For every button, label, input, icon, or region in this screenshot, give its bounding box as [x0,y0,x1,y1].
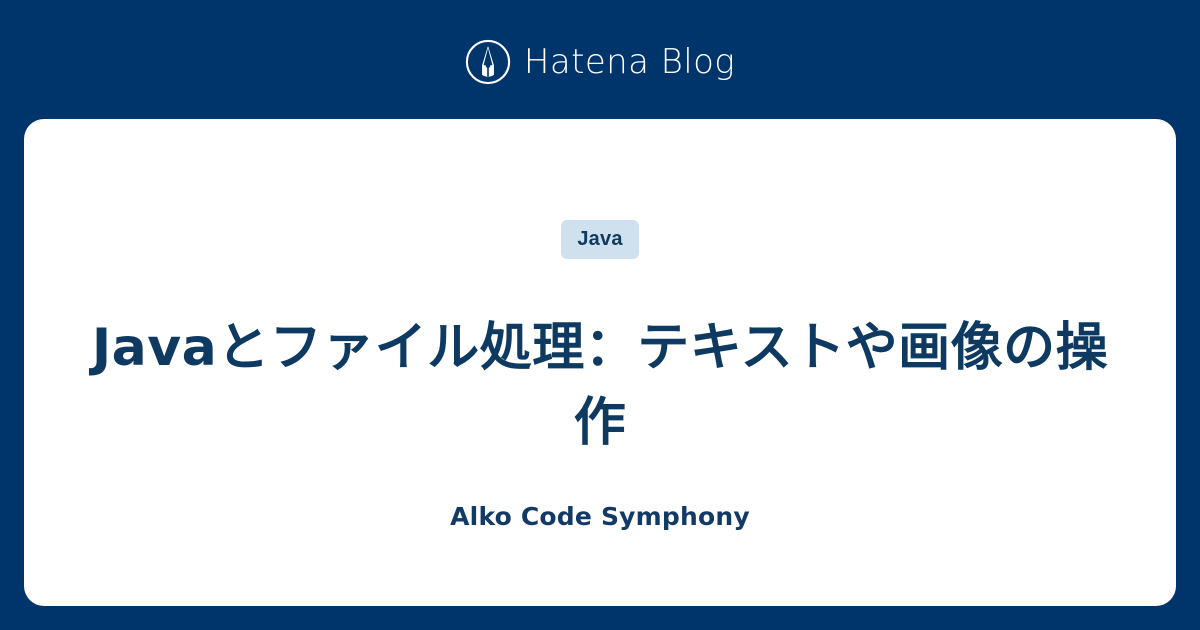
category-tag-java[interactable]: Java [561,220,638,259]
service-header: Hatena Blog [0,0,1200,119]
blog-name[interactable]: Alko Code Symphony [24,500,1176,534]
hatena-blog-brand[interactable]: Hatena Blog [465,39,735,85]
service-name-label: Hatena Blog [524,45,735,79]
entry-card: Java Javaとファイル処理：テキストや画像の操作 Alko Code Sy… [24,119,1176,606]
entry-card-inner: Java Javaとファイル処理：テキストや画像の操作 Alko Code Sy… [24,119,1176,606]
hatena-blog-ogp-card: Hatena Blog Java Javaとファイル処理：テキストや画像の操作 … [0,0,1200,630]
entry-title: Javaとファイル処理：テキストや画像の操作 [24,311,1176,461]
category-tag-row: Java [24,220,1176,259]
hatena-pen-nib-icon [465,39,511,85]
